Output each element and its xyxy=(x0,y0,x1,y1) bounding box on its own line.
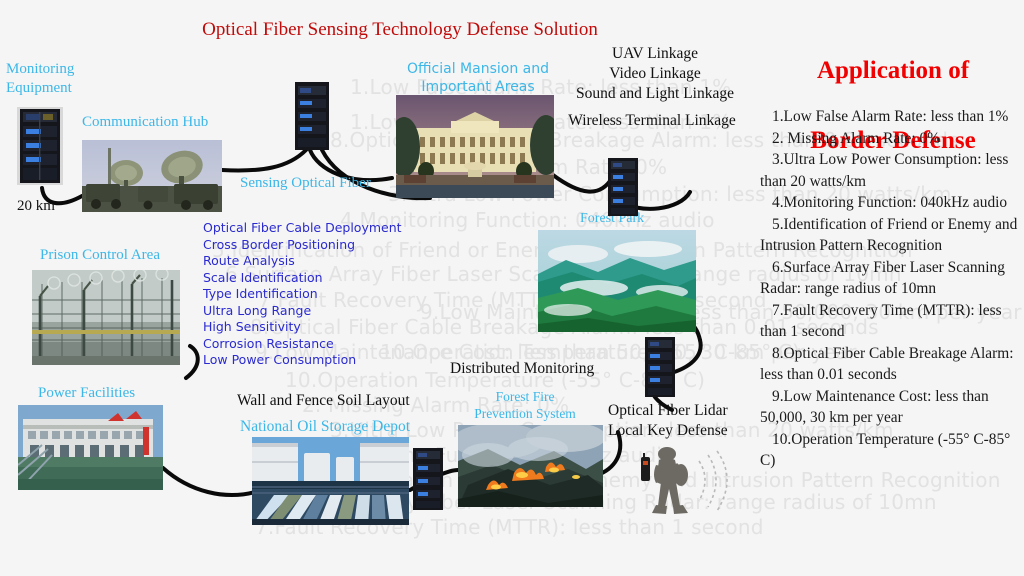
server-rack-linkage xyxy=(608,158,638,216)
feature-list: Optical Fiber Cable DeploymentCross Bord… xyxy=(203,220,413,369)
feature-item-1: Optical Fiber Cable Deployment xyxy=(203,220,413,237)
spec-item-2: 2. Missing Alarm Rate: 0% xyxy=(760,128,1024,150)
spec-item-1: 1.Low False Alarm Rate: less than 1% xyxy=(760,106,1024,128)
photo-oil-depot xyxy=(252,437,409,525)
spec-item-9: 9.Low Maintenance Cost: less than 50,000… xyxy=(760,386,1024,429)
wire-hub-to-sensing xyxy=(222,150,306,170)
spec-item-5: 5.Identification of Friend or Enemy and … xyxy=(760,214,1024,257)
spec-item-7: 7.Fault Recovery Time (MTTR): less than … xyxy=(760,300,1024,343)
wire-prison-to-power xyxy=(186,346,198,378)
photo-communication-hub xyxy=(82,140,222,212)
icon-soldier-with-radio xyxy=(625,443,730,518)
label-official-mansion: Official Mansion and Important Areas xyxy=(398,60,558,96)
photo-official-mansion xyxy=(396,95,554,198)
feature-item-4: Scale Identification xyxy=(203,270,413,287)
wire-power-to-oil xyxy=(163,468,255,495)
feature-item-9: Low Power Consumption xyxy=(203,352,413,369)
spec-item-10: 10.Operation Temperature (-55° C-85° C) xyxy=(760,429,1024,472)
spec-item-3: 3.Ultra Low Power Consumption: less than… xyxy=(760,149,1024,192)
feature-item-6: Ultra Long Range xyxy=(203,303,413,320)
label-wireless-terminal-linkage: Wireless Terminal Linkage xyxy=(552,112,752,130)
server-rack-central xyxy=(295,82,329,150)
spec-item-8: 8.Optical Fiber Cable Breakage Alarm: le… xyxy=(760,343,1024,386)
feature-item-2: Cross Border Positioning xyxy=(203,237,413,254)
label-optical-fiber-lidar: Optical Fiber Lidar Local Key Defense xyxy=(608,401,758,441)
feature-item-5: Type Identification xyxy=(203,286,413,303)
server-rack-oil xyxy=(413,448,443,510)
panel-title-line1: Application of xyxy=(762,53,1024,88)
page-title: Optical Fiber Sensing Technology Defense… xyxy=(190,19,610,41)
label-communication-hub: Communication Hub xyxy=(82,114,208,131)
slide-canvas: 1.Low False Alarm Rate: less than 1%1.Lo… xyxy=(0,0,1024,576)
spec-item-4: 4.Monitoring Function: 040kHz audio xyxy=(760,192,1024,214)
photo-forest-fire xyxy=(458,425,603,507)
border-defense-spec-list: 1.Low False Alarm Rate: less than 1%2. M… xyxy=(760,106,1024,472)
label-wall-fence-soil-layout: Wall and Fence Soil Layout xyxy=(237,392,410,410)
label-forest-fire-prevention: Forest Fire Prevention System xyxy=(470,388,580,422)
label-distance-20km: 20 km xyxy=(17,198,55,215)
label-linkage-list: UAV Linkage Video Linkage Sound and Ligh… xyxy=(560,44,750,104)
label-monitoring-equipment: Monitoring Equipment xyxy=(6,60,74,98)
label-national-oil-depot: National Oil Storage Depot xyxy=(240,418,410,436)
feature-item-7: High Sensitivity xyxy=(203,319,413,336)
feature-item-3: Route Analysis xyxy=(203,253,413,270)
spec-item-6: 6.Surface Array Fiber Laser Scanning Rad… xyxy=(760,257,1024,300)
server-rack-monitoring xyxy=(17,107,63,185)
server-rack-forest xyxy=(645,337,675,397)
label-power-facilities: Power Facilities xyxy=(38,385,135,402)
photo-forest-park xyxy=(538,230,696,332)
photo-power-dam xyxy=(18,405,163,490)
wire-mansion-to-forestrack xyxy=(553,175,612,192)
feature-item-8: Corrosion Resistance xyxy=(203,336,413,353)
label-sensing-optical-fiber: Sensing Optical Fiber xyxy=(240,175,371,192)
label-distributed-monitoring: Distributed Monitoring xyxy=(450,360,594,378)
photo-prison-fence xyxy=(32,270,180,365)
label-prison-control-area: Prison Control Area xyxy=(40,247,160,264)
